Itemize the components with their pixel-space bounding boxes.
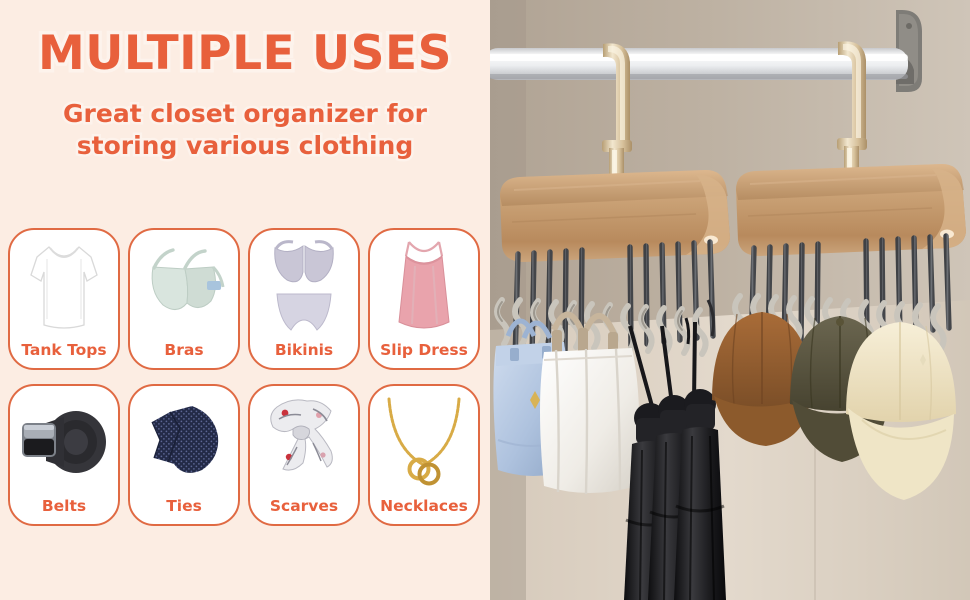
card-label: Scarves [270, 497, 338, 515]
card-label: Slip Dress [380, 341, 468, 359]
card-label: Bras [164, 341, 203, 359]
subtitle-line-1: Great closet organizer for [63, 99, 427, 128]
page-subtitle: Great closet organizer for storing vario… [0, 98, 490, 162]
tank-top-icon [10, 234, 118, 338]
use-case-card-grid: Tank Tops Bras [8, 228, 482, 540]
left-info-panel: MULTIPLE USES Great closet organizer for… [0, 0, 490, 600]
necklace-icon [370, 390, 478, 494]
product-photo [490, 0, 970, 600]
card-label: Bikinis [275, 341, 333, 359]
use-case-card-bras[interactable]: Bras [128, 228, 240, 370]
card-label: Tank Tops [21, 341, 106, 359]
belt-icon [10, 390, 118, 494]
use-case-card-tank-tops[interactable]: Tank Tops [8, 228, 120, 370]
use-case-card-necklaces[interactable]: Necklaces [368, 384, 480, 526]
page-title: MULTIPLE USES [0, 26, 490, 81]
scarf-icon [250, 390, 358, 494]
use-case-card-ties[interactable]: Ties [128, 384, 240, 526]
bikini-icon [250, 234, 358, 338]
slip-dress-icon [370, 234, 478, 338]
card-label: Belts [42, 497, 86, 515]
use-case-card-slip-dress[interactable]: Slip Dress [368, 228, 480, 370]
bra-icon [130, 234, 238, 338]
infographic-root: MULTIPLE USES Great closet organizer for… [0, 0, 970, 600]
use-case-card-scarves[interactable]: Scarves [248, 384, 360, 526]
use-case-card-bikinis[interactable]: Bikinis [248, 228, 360, 370]
card-label: Ties [166, 497, 202, 515]
subtitle-line-2: storing various clothing [0, 130, 490, 162]
closet-scene-illustration [490, 0, 970, 600]
card-label: Necklaces [380, 497, 468, 515]
use-case-card-belts[interactable]: Belts [8, 384, 120, 526]
tie-icon [130, 390, 238, 494]
